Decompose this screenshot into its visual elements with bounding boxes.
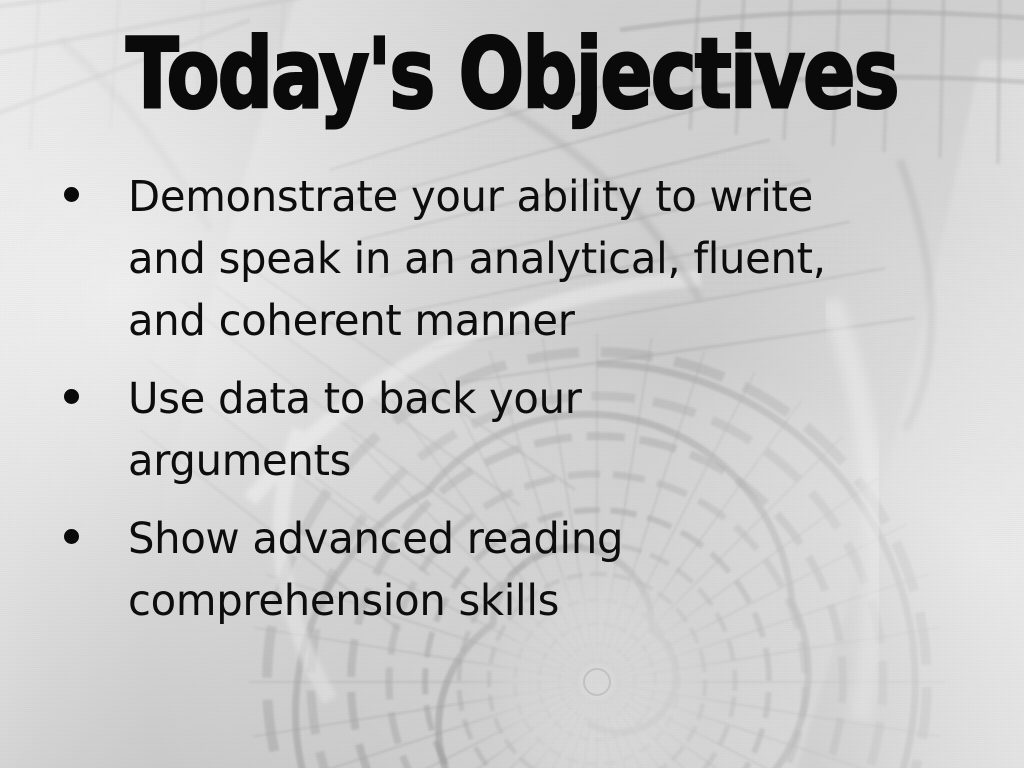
bullet-dot-icon (64, 529, 79, 544)
list-item: Demonstrate your ability to write and sp… (56, 166, 976, 352)
slide-title: Today's Objectives (102, 22, 921, 126)
list-item: Show advanced reading comprehension skil… (56, 508, 976, 632)
bullet-dot-icon (64, 187, 79, 202)
objectives-bullet-list: Demonstrate your ability to write and sp… (56, 166, 976, 648)
list-item: Use data to back your arguments (56, 368, 976, 492)
bullet-text: Show advanced reading comprehension skil… (128, 508, 710, 632)
slide-content: Today's Objectives Demonstrate your abil… (0, 0, 1024, 768)
bullet-text: Demonstrate your ability to write and sp… (128, 166, 894, 352)
bullet-text: Use data to back your arguments (128, 368, 652, 492)
bullet-dot-icon (64, 389, 79, 404)
presentation-slide: Today's Objectives Demonstrate your abil… (0, 0, 1024, 768)
